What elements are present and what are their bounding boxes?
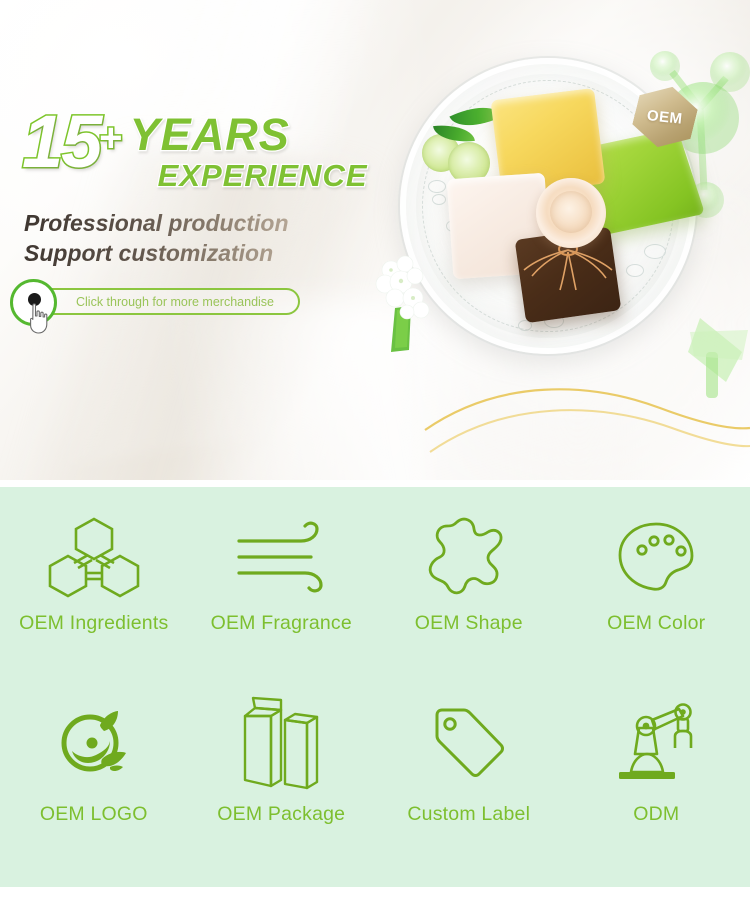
molecule-hexagons-icon [48, 512, 140, 604]
feature-label: OEM Color [607, 612, 705, 635]
feature-label: OEM Ingredients [19, 612, 168, 635]
feature-label: OEM Package [217, 803, 345, 826]
subtitle-line-1: Professional production [24, 208, 289, 238]
hero-banner: 15+ YEARS EXPERIENCE Professional produc… [0, 0, 750, 480]
feature-oem-ingredients[interactable]: OEM Ingredients [0, 487, 188, 677]
price-tag-icon [431, 697, 507, 789]
hero-headline: 15+ YEARS EXPERIENCE [22, 108, 368, 191]
feature-oem-color[interactable]: OEM Color [563, 487, 750, 677]
feature-row-1: OEM Ingredients OEM Fragrance OEM Shape [0, 487, 750, 677]
oem-badge-label: OEM [646, 107, 683, 128]
feature-label: OEM Fragrance [211, 612, 352, 635]
feature-oem-fragrance[interactable]: OEM Fragrance [188, 487, 376, 677]
blob-shape-icon [426, 512, 512, 604]
feature-oem-package[interactable]: OEM Package [188, 677, 376, 862]
water-bubble-icon [428, 180, 446, 193]
robot-arm-icon [617, 697, 695, 789]
feature-label: OEM Shape [415, 612, 523, 635]
sola-flower-decor [536, 178, 606, 248]
feature-custom-label[interactable]: Custom Label [375, 677, 563, 862]
paint-palette-icon [616, 512, 696, 604]
hand-cursor-icon [24, 302, 54, 336]
feature-label: OEM LOGO [40, 803, 148, 826]
feature-label: ODM [633, 803, 679, 826]
years-number-block: 15+ [22, 108, 120, 176]
cta-label: Click through for more merchandise [76, 295, 274, 309]
wind-fragrance-icon [233, 512, 329, 604]
feature-label: Custom Label [407, 803, 530, 826]
water-bubble-icon [626, 264, 644, 277]
feature-row-2: OEM LOGO OEM Package [0, 677, 750, 862]
years-number: 15 [22, 100, 100, 183]
leaf-logo-icon [52, 697, 136, 789]
features-section: OEM Ingredients OEM Fragrance OEM Shape [0, 487, 750, 887]
subtitle-line-2: Support customization [24, 238, 289, 268]
years-experience-block: YEARS EXPERIENCE [130, 112, 368, 191]
package-boxes-icon [241, 697, 321, 789]
hero-subtitle: Professional production Support customiz… [24, 208, 289, 269]
feature-odm[interactable]: ODM [563, 677, 750, 862]
cta-knob[interactable] [10, 279, 57, 326]
white-flower-sprig-decor [365, 248, 445, 358]
feature-oem-logo[interactable]: OEM LOGO [0, 677, 188, 862]
cta-button[interactable]: Click through for more merchandise [20, 288, 300, 315]
plus-sign: + [98, 116, 119, 160]
water-bubble-icon [644, 244, 666, 259]
years-word: YEARS [130, 112, 368, 157]
product-plate: OEM [400, 58, 700, 368]
water-bubble-icon [432, 194, 446, 205]
experience-word: EXPERIENCE [158, 160, 368, 191]
feature-oem-shape[interactable]: OEM Shape [375, 487, 563, 677]
